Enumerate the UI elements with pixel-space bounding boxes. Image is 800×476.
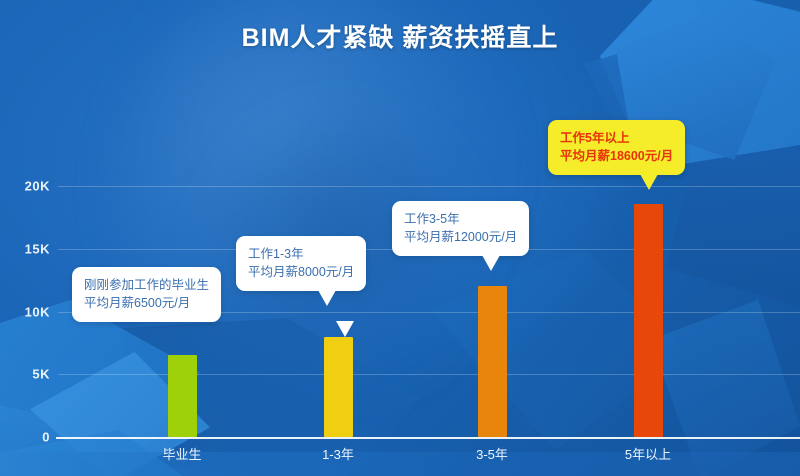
x-axis-tick-3: 3-5年 bbox=[476, 444, 508, 463]
x-axis-tick-4: 5年以上 bbox=[625, 444, 671, 463]
callout-4-line2: 平均月薪18600元/月 bbox=[560, 147, 673, 165]
callout-1-tail-icon bbox=[336, 321, 354, 337]
callout-2: 工作1-3年平均月薪8000元/月 bbox=[236, 236, 366, 291]
callout-4-tail-icon bbox=[640, 174, 658, 190]
callout-3-line1: 工作3-5年 bbox=[404, 210, 517, 228]
callout-1: 刚刚参加工作的毕业生平均月薪6500元/月 bbox=[72, 267, 221, 322]
callout-4-line1: 工作5年以上 bbox=[560, 129, 673, 147]
x-axis-tick-1: 毕业生 bbox=[162, 444, 201, 463]
bar-4[interactable] bbox=[634, 204, 663, 437]
x-axis-line bbox=[56, 437, 800, 439]
callout-4: 工作5年以上平均月薪18600元/月 bbox=[548, 120, 685, 175]
callout-2-line2: 平均月薪8000元/月 bbox=[248, 263, 354, 281]
callout-2-line1: 工作1-3年 bbox=[248, 245, 354, 263]
y-axis-tick-5K: 5K bbox=[0, 367, 50, 382]
bar-1[interactable] bbox=[168, 355, 197, 437]
callout-1-line2: 平均月薪6500元/月 bbox=[84, 294, 209, 312]
x-axis-tick-2: 1-3年 bbox=[322, 444, 354, 463]
chart-poster: BIM人才紧缺 薪资扶摇直上 05K10K15K20K毕业生1-3年3-5年5年… bbox=[0, 0, 800, 476]
y-axis-tick-0: 0 bbox=[0, 430, 50, 445]
callout-2-tail-icon bbox=[318, 290, 336, 306]
bar-3[interactable] bbox=[478, 286, 507, 437]
callout-3-tail-icon bbox=[482, 255, 500, 271]
callout-3: 工作3-5年平均月薪12000元/月 bbox=[392, 201, 529, 256]
y-axis-tick-15K: 15K bbox=[0, 241, 50, 256]
y-axis-tick-20K: 20K bbox=[0, 179, 50, 194]
gridline-20K bbox=[58, 186, 800, 187]
bar-2[interactable] bbox=[324, 337, 353, 437]
y-axis-tick-10K: 10K bbox=[0, 304, 50, 319]
callout-1-line1: 刚刚参加工作的毕业生 bbox=[84, 276, 209, 294]
callout-3-line2: 平均月薪12000元/月 bbox=[404, 228, 517, 246]
bar-chart: 05K10K15K20K毕业生1-3年3-5年5年以上刚刚参加工作的毕业生平均月… bbox=[0, 0, 800, 476]
